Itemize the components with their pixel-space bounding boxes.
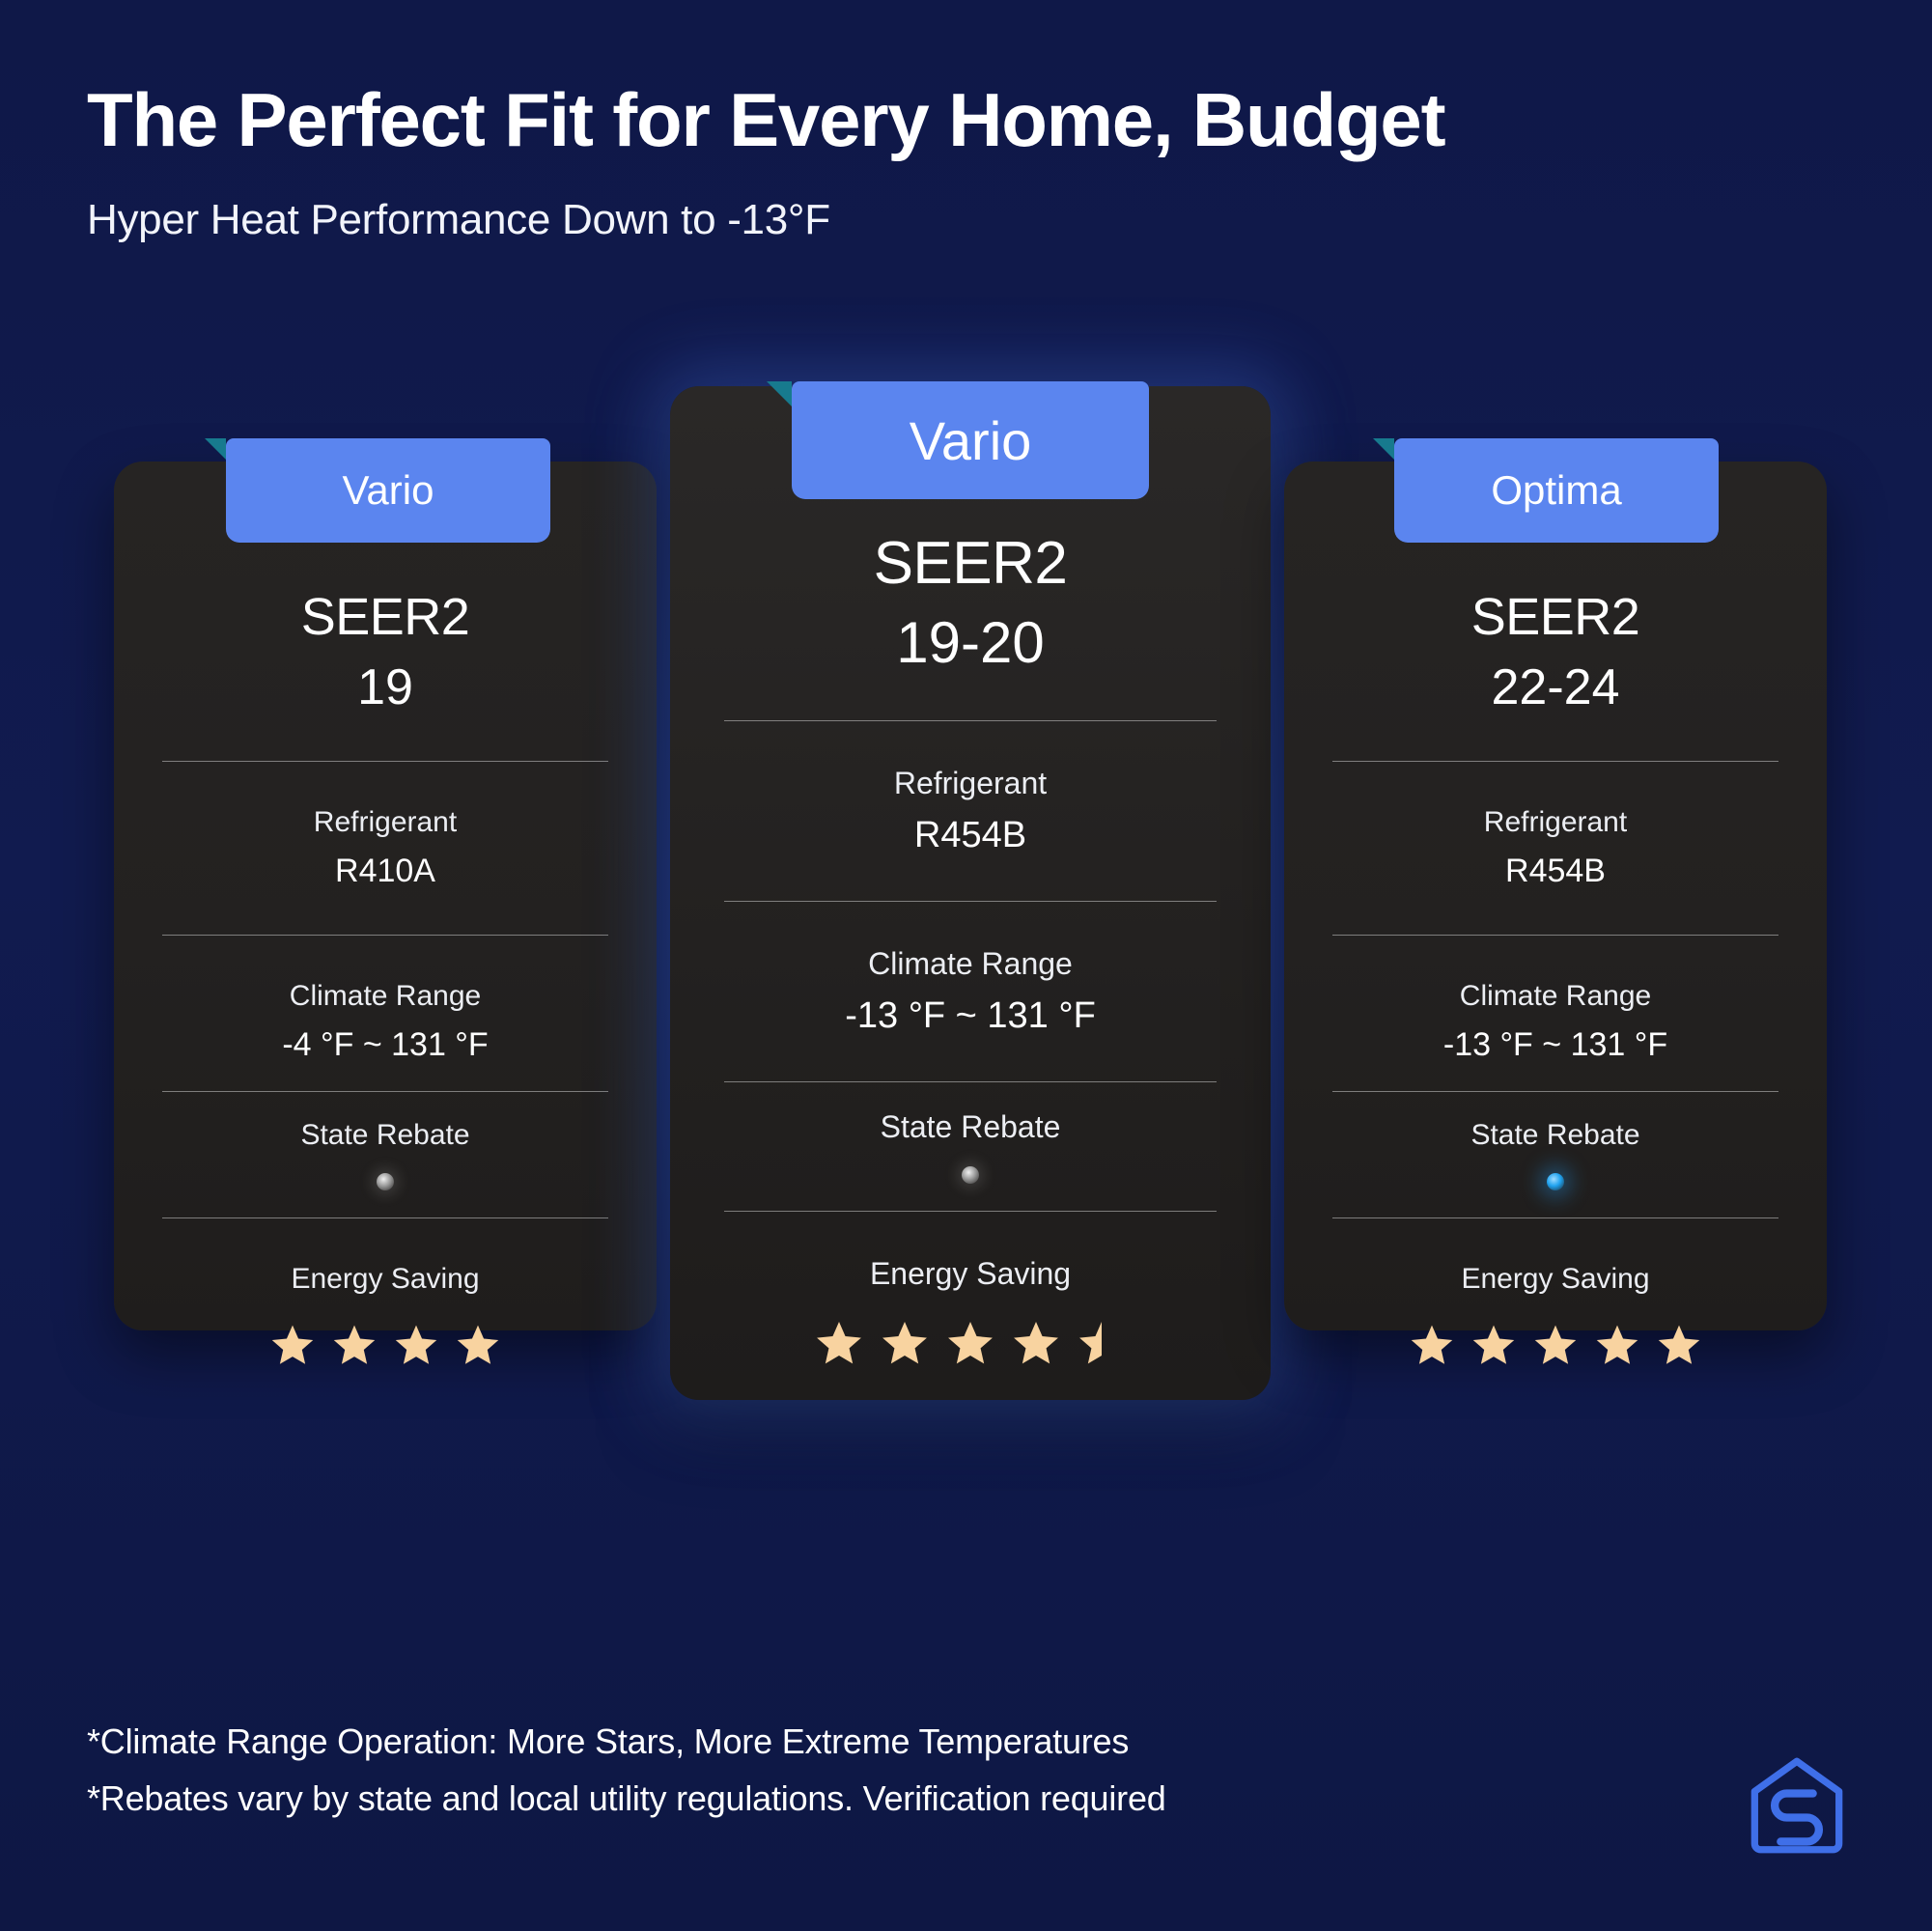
state-rebate-indicator-icon xyxy=(377,1173,394,1190)
spec-value: R410A xyxy=(162,853,608,890)
footnote-rebates: *Rebates vary by state and local utility… xyxy=(87,1771,1535,1827)
page-title: The Perfect Fit for Every Home, Budget xyxy=(87,82,1854,157)
product-card-vario-19[interactable]: SEER2 19 Refrigerant R410A Climate Range… xyxy=(114,462,657,1330)
spec-energy-saving: Energy Saving xyxy=(1332,1263,1778,1369)
ribbon-label: Vario xyxy=(910,409,1032,472)
ribbon-fold-icon xyxy=(767,381,792,406)
product-card-vario-19-20[interactable]: SEER2 19-20 Refrigerant R454B Climate Ra… xyxy=(670,386,1271,1400)
seer-value: 22-24 xyxy=(1492,658,1620,716)
card-ribbon-vario-19-20[interactable]: Vario xyxy=(792,381,1149,499)
comparison-cards: SEER2 19 Refrigerant R410A Climate Range… xyxy=(0,0,1932,1931)
energy-saving-stars xyxy=(162,1321,608,1369)
spec-label: Climate Range xyxy=(162,980,608,1013)
ribbon-fold-icon xyxy=(1373,438,1394,460)
divider xyxy=(162,761,608,762)
divider xyxy=(724,901,1217,902)
spec-value: R454B xyxy=(724,815,1217,856)
spec-state-rebate: State Rebate xyxy=(724,1109,1217,1184)
spec-label: Refrigerant xyxy=(724,766,1217,801)
spec-value: -13 °F ~ 131 °F xyxy=(724,995,1217,1037)
house-monogram-logo xyxy=(1747,1755,1847,1856)
seer-label: SEER2 xyxy=(1471,587,1640,647)
seer-value: 19-20 xyxy=(896,609,1044,676)
spec-energy-saving: Energy Saving xyxy=(724,1256,1217,1369)
spec-value: -13 °F ~ 131 °F xyxy=(1332,1026,1778,1064)
divider xyxy=(1332,1091,1778,1092)
spec-value: -4 °F ~ 131 °F xyxy=(162,1026,608,1064)
seer-label: SEER2 xyxy=(301,587,470,647)
seer-label: SEER2 xyxy=(874,529,1068,598)
infographic-canvas: The Perfect Fit for Every Home, Budget H… xyxy=(0,0,1932,1931)
ribbon-label: Optima xyxy=(1491,467,1621,514)
spec-label: Refrigerant xyxy=(1332,806,1778,839)
footnotes: *Climate Range Operation: More Stars, Mo… xyxy=(87,1714,1535,1827)
divider xyxy=(1332,1217,1778,1218)
spec-label: State Rebate xyxy=(724,1109,1217,1145)
header: The Perfect Fit for Every Home, Budget H… xyxy=(87,82,1854,244)
spec-label: State Rebate xyxy=(1332,1119,1778,1152)
card-ribbon-optima-22-24[interactable]: Optima xyxy=(1394,438,1719,543)
page-subtitle: Hyper Heat Performance Down to -13°F xyxy=(87,196,1854,244)
divider xyxy=(724,720,1217,721)
spec-state-rebate: State Rebate xyxy=(162,1119,608,1190)
divider xyxy=(162,1217,608,1218)
spec-refrigerant: Refrigerant R410A xyxy=(162,806,608,890)
state-rebate-indicator-icon xyxy=(962,1166,979,1184)
energy-saving-stars xyxy=(1332,1321,1778,1369)
spec-state-rebate: State Rebate xyxy=(1332,1119,1778,1190)
seer-value: 19 xyxy=(357,658,413,716)
spec-climate-range: Climate Range -13 °F ~ 131 °F xyxy=(1332,980,1778,1064)
spec-refrigerant: Refrigerant R454B xyxy=(1332,806,1778,890)
divider xyxy=(162,935,608,936)
divider xyxy=(724,1211,1217,1212)
spec-value: R454B xyxy=(1332,853,1778,890)
footnote-climate-range: *Climate Range Operation: More Stars, Mo… xyxy=(87,1714,1535,1770)
spec-label: Climate Range xyxy=(724,946,1217,982)
spec-label: Energy Saving xyxy=(1332,1263,1778,1296)
ribbon-fold-icon xyxy=(205,438,226,460)
energy-saving-stars xyxy=(724,1317,1217,1369)
spec-label: Refrigerant xyxy=(162,806,608,839)
spec-label: Energy Saving xyxy=(724,1256,1217,1292)
divider xyxy=(1332,935,1778,936)
state-rebate-indicator-icon xyxy=(1547,1173,1564,1190)
spec-label: Climate Range xyxy=(1332,980,1778,1013)
spec-energy-saving: Energy Saving xyxy=(162,1263,608,1369)
product-card-optima-22-24[interactable]: SEER2 22-24 Refrigerant R454B Climate Ra… xyxy=(1284,462,1827,1330)
spec-label: Energy Saving xyxy=(162,1263,608,1296)
spec-label: State Rebate xyxy=(162,1119,608,1152)
spec-climate-range: Climate Range -4 °F ~ 131 °F xyxy=(162,980,608,1064)
ribbon-label: Vario xyxy=(343,467,434,514)
divider xyxy=(1332,761,1778,762)
spec-climate-range: Climate Range -13 °F ~ 131 °F xyxy=(724,946,1217,1037)
spec-refrigerant: Refrigerant R454B xyxy=(724,766,1217,856)
divider xyxy=(724,1081,1217,1082)
divider xyxy=(162,1091,608,1092)
card-ribbon-vario-19[interactable]: Vario xyxy=(226,438,550,543)
